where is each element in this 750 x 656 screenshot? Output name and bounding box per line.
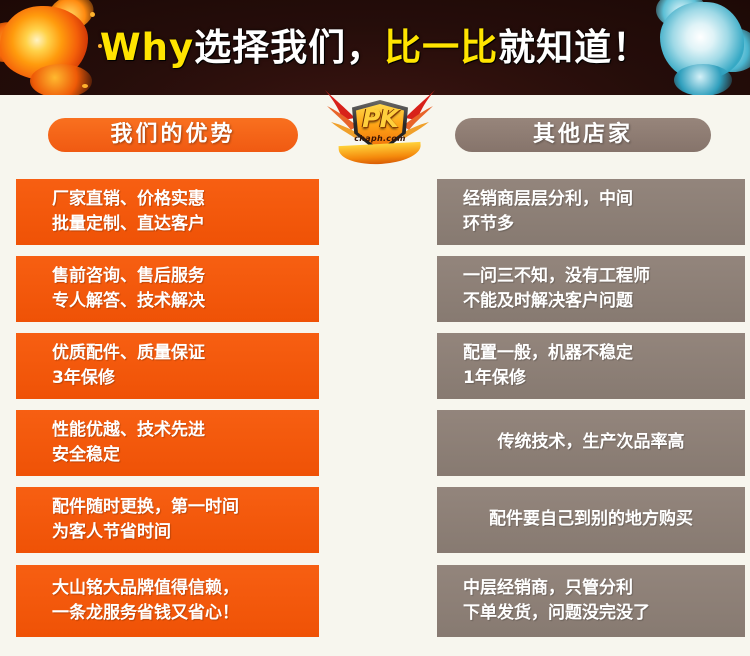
advantage-line: 售前咨询、售后服务: [52, 264, 309, 289]
other-shop-cell: 传统技术，生产次品率高: [437, 410, 745, 476]
banner-title-segment-3: 比一比: [384, 26, 498, 69]
comparison-row: 大山铭大品牌值得信赖， 一条龙服务省钱又省心！ 中层经销商，只管分利 下单发货，…: [0, 561, 750, 643]
comparison-row: 优质配件、质量保证 3年保修 配置一般，机器不稳定 1年保修: [0, 330, 750, 407]
advantage-cell: 售前咨询、售后服务 专人解答、技术解决: [16, 256, 319, 322]
advantage-line: 专人解答、技术解决: [52, 289, 309, 314]
column-header-other-shops: 其他店家: [455, 118, 711, 152]
banner-title-segment-2: 选择我们，: [194, 26, 384, 69]
comparison-row: 配件随时更换，第一时间 为客人节省时间 配件要自己到别的地方购买: [0, 484, 750, 561]
column-header-our-advantages: 我们的优势: [48, 118, 298, 152]
comparison-row: 售前咨询、售后服务 专人解答、技术解决 一问三不知，没有工程师 不能及时解决客户…: [0, 253, 750, 330]
advantage-cell: 性能优越、技术先进 安全稳定: [16, 410, 319, 476]
other-shop-line: 传统技术，生产次品率高: [498, 430, 685, 455]
pk-logo-letters: PK: [356, 106, 404, 131]
other-shop-line: 配件要自己到别的地方购买: [489, 507, 693, 532]
advantage-line: 3年保修: [52, 366, 309, 391]
comparison-rows: 厂家直销、价格实惠 批量定制、直达客户 经销商层层分利，中间 环节多 售前咨询、…: [0, 176, 750, 643]
other-shop-line: 下单发货，问题没完没了: [463, 601, 735, 626]
advantage-line: 安全稳定: [52, 443, 309, 468]
other-shop-cell: 配件要自己到别的地方购买: [437, 487, 745, 553]
other-shop-cell: 经销商层层分利，中间 环节多: [437, 179, 745, 245]
banner-title-segment-1: Why: [100, 26, 194, 69]
other-shop-line: 配置一般，机器不稳定: [463, 341, 735, 366]
advantage-line: 优质配件、质量保证: [52, 341, 309, 366]
advantage-cell: 厂家直销、价格实惠 批量定制、直达客户: [16, 179, 319, 245]
other-shop-cell: 中层经销商，只管分利 下单发货，问题没完没了: [437, 565, 745, 637]
advantage-cell: 大山铭大品牌值得信赖， 一条龙服务省钱又省心！: [16, 565, 319, 637]
advantage-line: 性能优越、技术先进: [52, 418, 309, 443]
advantage-line: 配件随时更换，第一时间: [52, 495, 309, 520]
advantage-line: 大山铭大品牌值得信赖，: [52, 576, 309, 601]
other-shop-line: 经销商层层分利，中间: [463, 187, 735, 212]
other-shop-line: 一问三不知，没有工程师: [463, 264, 735, 289]
advantage-line: 批量定制、直达客户: [52, 212, 309, 237]
comparison-row: 性能优越、技术先进 安全稳定 传统技术，生产次品率高: [0, 407, 750, 484]
comparison-infographic: Why选择我们，比一比就知道！ PK chaph.com 我们的优势 其他店家 …: [0, 0, 750, 656]
banner-title-segment-4: 就知道！: [498, 26, 650, 69]
advantage-cell: 配件随时更换，第一时间 为客人节省时间: [16, 487, 319, 553]
banner-title: Why选择我们，比一比就知道！: [0, 17, 750, 71]
comparison-row: 厂家直销、价格实惠 批量定制、直达客户 经销商层层分利，中间 环节多: [0, 176, 750, 253]
other-shop-line: 环节多: [463, 212, 735, 237]
advantage-line: 为客人节省时间: [52, 520, 309, 545]
header-banner: Why选择我们，比一比就知道！: [0, 0, 750, 95]
advantage-line: 一条龙服务省钱又省心！: [52, 601, 309, 626]
other-shop-line: 不能及时解决客户问题: [463, 289, 735, 314]
pk-flame-badge-icon: PK chaph.com: [325, 88, 435, 168]
other-shop-cell: 配置一般，机器不稳定 1年保修: [437, 333, 745, 399]
advantage-line: 厂家直销、价格实惠: [52, 187, 309, 212]
other-shop-line: 1年保修: [463, 366, 735, 391]
pk-logo-subtext: chaph.com: [345, 134, 415, 143]
other-shop-cell: 一问三不知，没有工程师 不能及时解决客户问题: [437, 256, 745, 322]
other-shop-line: 中层经销商，只管分利: [463, 576, 735, 601]
advantage-cell: 优质配件、质量保证 3年保修: [16, 333, 319, 399]
